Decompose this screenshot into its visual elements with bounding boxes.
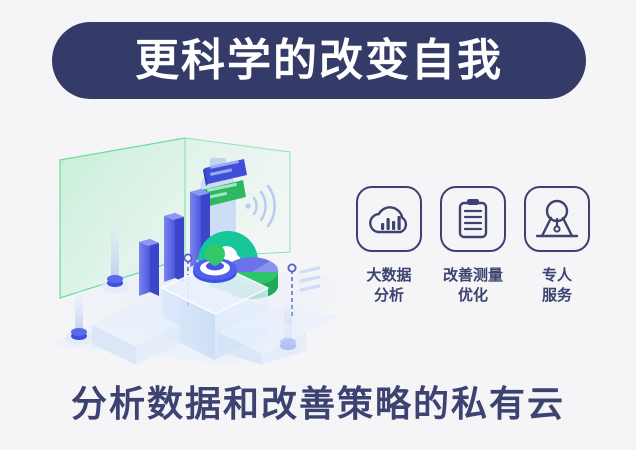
feature-label-big-data: 大数据 分析 xyxy=(366,266,411,307)
page-title: 更科学的改变自我 xyxy=(135,39,503,83)
hero-illustration xyxy=(40,120,370,365)
cloud-bar-chart-icon-box xyxy=(356,186,422,252)
cloud-bar-chart-icon xyxy=(366,199,412,239)
feature-item-measurement[interactable]: 改善测量 优化 xyxy=(436,186,510,307)
feature-label-measurement: 改善测量 优化 xyxy=(443,266,503,307)
feature-item-big-data[interactable]: 大数据 分析 xyxy=(352,186,426,307)
poster-canvas: 更科学的改变自我 xyxy=(0,0,636,450)
clipboard-icon xyxy=(453,197,493,241)
feature-item-service[interactable]: 专人 服务 xyxy=(520,186,594,307)
title-banner: 更科学的改变自我 xyxy=(52,22,586,99)
service-person-icon xyxy=(534,198,580,240)
service-person-icon-box xyxy=(524,186,590,252)
feature-list: 大数据 分析 改善测量 优化 xyxy=(352,186,594,307)
footer-tagline: 分析数据和改善策略的私有云 xyxy=(0,384,636,424)
clipboard-icon-box xyxy=(440,186,506,252)
feature-label-service: 专人 服务 xyxy=(542,266,572,307)
